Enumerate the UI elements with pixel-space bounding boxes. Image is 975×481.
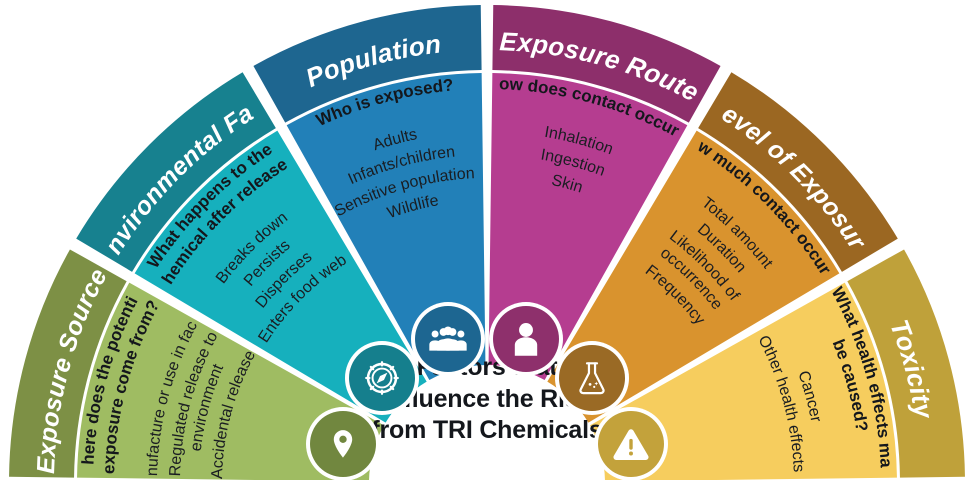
icon-badge-exposure-route[interactable]: [489, 302, 563, 376]
icon-badge-toxicity[interactable]: [594, 407, 668, 481]
infographic-canvas: Exposure SourceWhere does the potentiale…: [0, 0, 975, 480]
flask-icon: [559, 345, 625, 411]
compass-icon: [349, 345, 415, 411]
icon-badge-exposure-source[interactable]: [306, 407, 380, 481]
person-icon: [493, 306, 559, 372]
icon-badge-environmental-fate[interactable]: [345, 341, 419, 415]
icon-badge-population[interactable]: [411, 302, 485, 376]
people-group-icon: [415, 306, 481, 372]
icon-badge-level-of-exposure[interactable]: [555, 341, 629, 415]
map-pin-icon: [310, 411, 376, 477]
center-title-line-3: from TRI Chemicals: [358, 415, 616, 447]
warning-triangle-icon: [598, 411, 664, 477]
